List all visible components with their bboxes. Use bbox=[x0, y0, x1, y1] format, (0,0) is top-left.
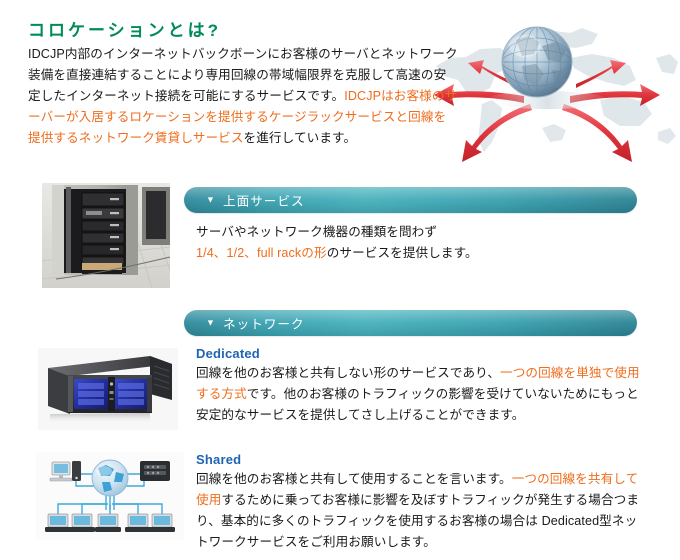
section-header-top-service[interactable]: ▼ 上面サービス bbox=[184, 187, 637, 213]
section-header-label: 上面サービス bbox=[223, 191, 305, 210]
text-run: サーバやネットワーク機器の種類を問わず bbox=[196, 225, 437, 239]
section-header-label: ネットワーク bbox=[223, 314, 305, 333]
server-rack-photo bbox=[42, 183, 170, 288]
text-run: 回線を他のお客様と共有して使用することを言います。 bbox=[196, 472, 512, 486]
text-run: 回線を他のお客様と共有しない形のサービスであり、 bbox=[196, 366, 500, 380]
blue-wireframe-globe bbox=[502, 27, 572, 97]
intro-paragraph: IDCJP内部のインターネットバックボーンにお客様のサーバとネットワーク装備を直… bbox=[28, 44, 458, 149]
world-map-backdrop bbox=[436, 28, 678, 152]
text-run: のサービスを提供します。 bbox=[327, 246, 478, 260]
hero-section: コロケーションとは? IDCJP内部のインターネットバックボーンにお客様のサーバ… bbox=[0, 0, 680, 172]
text-run: です。他のお客様のトラフィックの影響を受けていないためにもっと安定的なサービスを… bbox=[196, 387, 639, 422]
server-stack-icon bbox=[140, 461, 170, 481]
network-topology-diagram bbox=[36, 452, 184, 540]
chevron-down-icon: ▼ bbox=[206, 196, 215, 205]
chevron-down-icon: ▼ bbox=[206, 319, 215, 328]
top-service-description: サーバやネットワーク機器の種類を問わず 1/4、1/2、full rackの形の… bbox=[196, 222, 626, 264]
paragraph-line-2: 1/4、1/2、full rackの形のサービスを提供します。 bbox=[196, 243, 626, 264]
page-title: コロケーションとは? bbox=[28, 16, 221, 41]
intro-run-plain-2: を進行しています。 bbox=[244, 131, 357, 145]
blue-globe-icon bbox=[92, 460, 128, 496]
section-header-network[interactable]: ▼ ネットワーク bbox=[184, 310, 637, 336]
desktop-pc-icon bbox=[50, 461, 81, 481]
text-run-highlight: 1/4、1/2、full rackの形 bbox=[196, 246, 327, 260]
red-arrow-group bbox=[434, 60, 660, 162]
globe-with-red-arrows-illustration bbox=[430, 0, 680, 172]
paragraph-line-1: サーバやネットワーク機器の種類を問わず bbox=[196, 222, 626, 243]
text-run: するために乗ってお客様に影響を及ぼすトラフィックが発生する場合つまり、基本的に多… bbox=[196, 493, 639, 549]
rackmount-server-photo bbox=[38, 348, 178, 430]
dedicated-description: 回線を他のお客様と共有しない形のサービスであり、一つの回線を単独で使用する方式で… bbox=[196, 363, 644, 426]
laptop-row bbox=[45, 514, 175, 532]
subsection-heading-shared: Shared bbox=[196, 452, 241, 467]
shared-description: 回線を他のお客様と共有して使用することを言います。一つの回線を共有して使用するた… bbox=[196, 469, 648, 553]
subsection-heading-dedicated: Dedicated bbox=[196, 346, 260, 361]
